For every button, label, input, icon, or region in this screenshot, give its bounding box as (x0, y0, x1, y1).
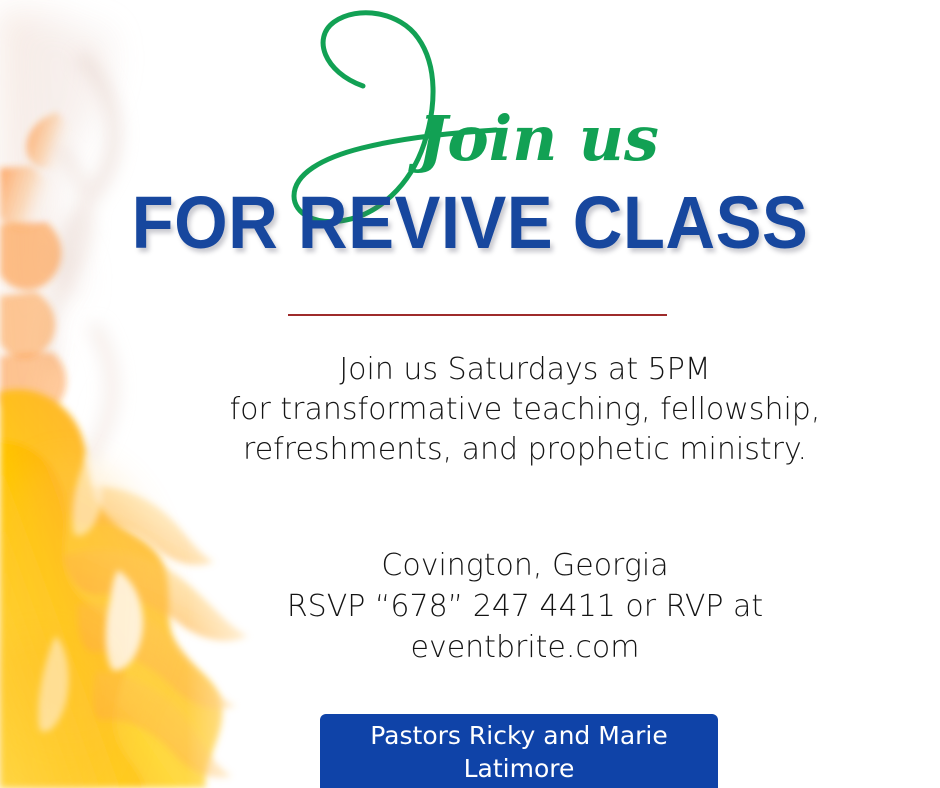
script-heading-text: Join us (408, 102, 659, 175)
script-heading: Join us (250, 8, 700, 208)
event-details-text: Join us Saturdays at 5PM for transformat… (130, 350, 920, 470)
location-rsvp-text: Covington, Georgia RSVP “678” 247 4411 o… (130, 545, 920, 668)
hosts-banner: Pastors Ricky and Marie Latimore (320, 714, 718, 788)
event-flyer: Join us FOR REVIVE CLASS Join us Saturda… (0, 0, 940, 788)
hosts-banner-label: Pastors Ricky and Marie Latimore (334, 719, 704, 785)
divider (288, 314, 667, 316)
page-title: FOR REVIVE CLASS (33, 186, 907, 260)
